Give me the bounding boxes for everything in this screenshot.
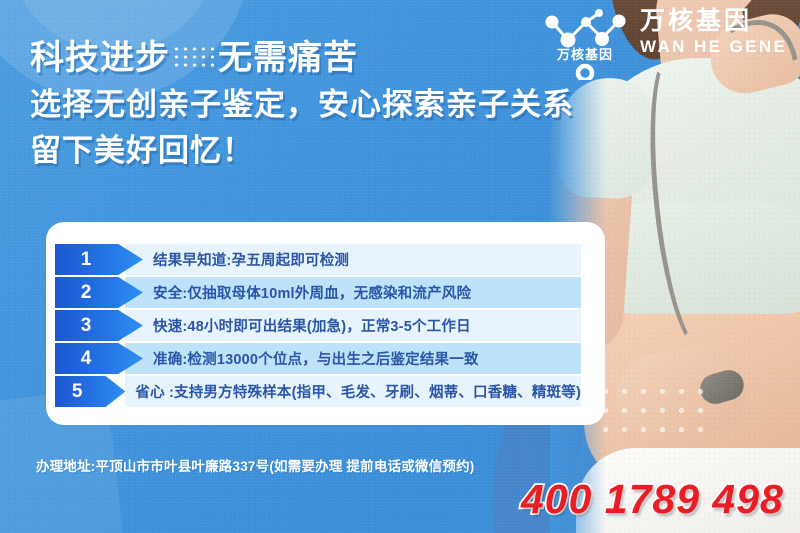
list-item[interactable]: 3 快速:48小时即可出结果(加急)，正常3-5个工作日 — [55, 310, 581, 341]
row-text: 结果早知道:孕五周起即可检测 — [153, 249, 349, 270]
headline-line-1: 科技进步 无需痛苦 — [30, 36, 690, 80]
dots-decoration-icon — [172, 45, 214, 71]
row-text: 省心 :支持男方特殊样本(指甲、毛发、牙刷、烟蒂、口香糖、精斑等) — [135, 381, 581, 402]
headline-block: 科技进步 无需痛苦 选择无创亲子鉴定，安心探索亲子关系 留下美好回忆！ — [30, 36, 690, 172]
list-item[interactable]: 4 准确:检测13000个位点，与出生之后鉴定结果一致 — [55, 343, 581, 374]
row-text: 准确:检测13000个位点，与出生之后鉴定结果一致 — [153, 348, 479, 369]
features-card: 1 结果早知道:孕五周起即可检测 2 安全:仅抽取母体10ml外周血，无感染和流… — [46, 222, 605, 425]
headline-line-1-part-2: 无需痛苦 — [218, 36, 358, 80]
list-item[interactable]: 5 省心 :支持男方特殊样本(指甲、毛发、牙刷、烟蒂、口香糖、精斑等) — [55, 376, 581, 407]
headline-line-1-part-1: 科技进步 — [30, 36, 170, 80]
logo-chinese-large: 万核基因 — [640, 6, 796, 36]
poster-banner: 万核基因 万核基因 WAN HE GENE 科技进步 无需痛苦 选择无创亲子鉴定… — [0, 0, 800, 533]
headline-line-3: 留下美好回忆！ — [30, 130, 690, 172]
row-text: 快速:48小时即可出结果(加急)，正常3-5个工作日 — [153, 315, 471, 336]
office-address: 办理地址:平顶山市市叶县叶廉路337号(如需要办理 提前电话或微信预约) — [36, 455, 474, 475]
row-number-badge: 5 — [55, 376, 125, 407]
list-item[interactable]: 2 安全:仅抽取母体10ml外周血，无感染和流产风险 — [55, 277, 581, 308]
dot-grid-decoration — [596, 382, 712, 440]
list-item[interactable]: 1 结果早知道:孕五周起即可检测 — [55, 244, 581, 275]
row-text: 安全:仅抽取母体10ml外周血，无感染和流产风险 — [153, 282, 471, 303]
hotline-phone-number[interactable]: 400 1789 498 — [521, 476, 784, 523]
features-list: 1 结果早知道:孕五周起即可检测 2 安全:仅抽取母体10ml外周血，无感染和流… — [55, 244, 581, 409]
headline-line-2: 选择无创亲子鉴定，安心探索亲子关系 — [30, 84, 690, 126]
